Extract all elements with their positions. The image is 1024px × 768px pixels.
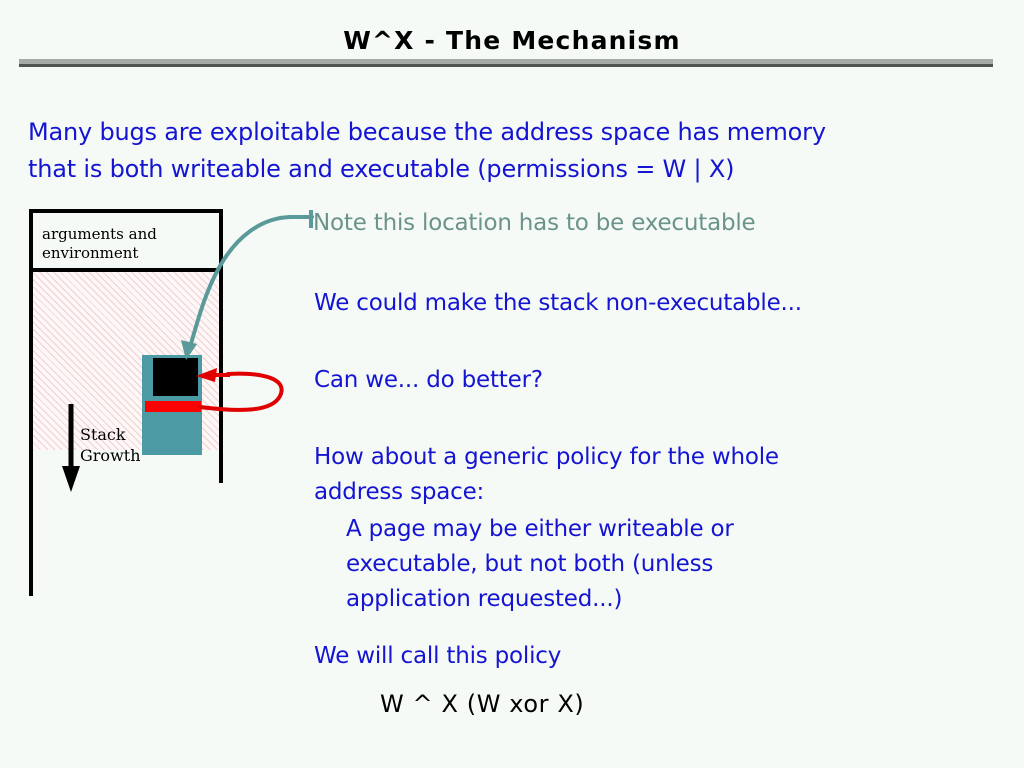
- note-policy-detail-line-2: executable, but not both (unless: [346, 547, 906, 582]
- note-call-this-policy: We will call this policy: [314, 639, 561, 674]
- stack-growth-line-1: Stack: [80, 424, 141, 445]
- args-env-line-1: arguments and: [42, 225, 214, 244]
- diagram-border-right: [219, 209, 223, 483]
- stack-growth-label: Stack Growth: [80, 424, 141, 466]
- stack-growth-line-2: Growth: [80, 445, 141, 466]
- address-space-diagram: arguments and environment Stack Growth: [0, 0, 330, 640]
- note-can-we-do-better: Can we... do better?: [314, 363, 543, 398]
- args-env-line-2: environment: [42, 244, 214, 263]
- note-policy-detail: A page may be either writeable or execut…: [346, 512, 906, 617]
- note-executable-location: Note this location has to be executable: [313, 210, 756, 236]
- args-and-environment-label: arguments and environment: [42, 225, 214, 263]
- note-policy-detail-line-3: application requested...): [346, 582, 906, 617]
- note-policy-detail-line-1: A page may be either writeable or: [346, 512, 906, 547]
- slide-canvas: W^X - The Mechanism Many bugs are exploi…: [0, 0, 1024, 768]
- return-address-bar: [145, 401, 201, 412]
- shellcode-block: [153, 358, 198, 396]
- note-generic-policy-line-2: address space:: [314, 475, 894, 510]
- stack-growth-arrow-icon: [60, 404, 82, 494]
- note-generic-policy-line-1: How about a generic policy for the whole: [314, 440, 894, 475]
- diagram-border-top: [29, 209, 223, 213]
- note-generic-policy: How about a generic policy for the whole…: [314, 440, 894, 510]
- wx-formula: W ^ X (W xor X): [380, 690, 584, 718]
- note-non-executable-stack: We could make the stack non-executable..…: [314, 286, 802, 321]
